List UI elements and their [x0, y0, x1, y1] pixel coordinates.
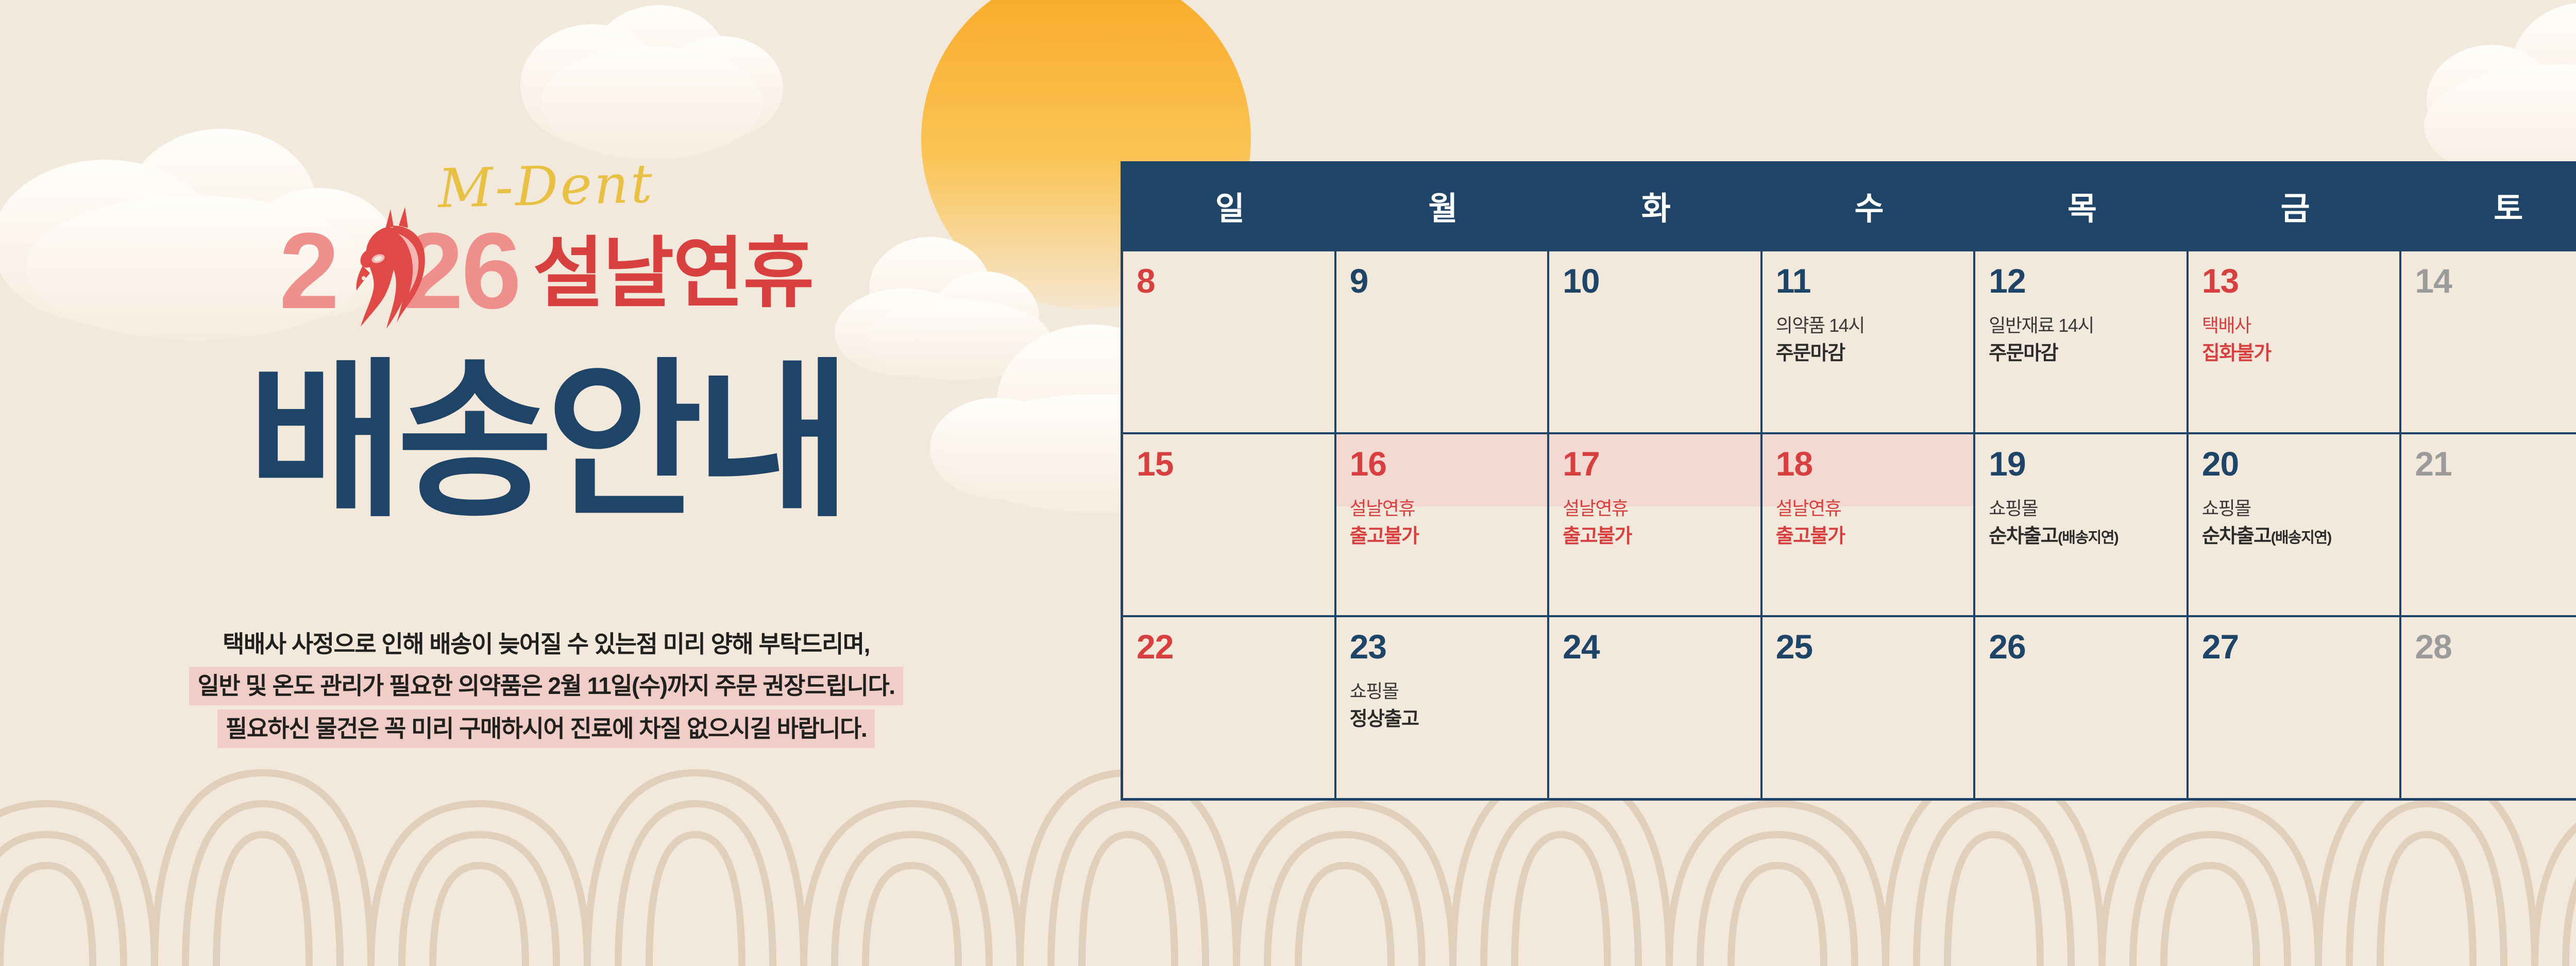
weekday-sun: 일 [1123, 164, 1336, 249]
day-note-secondary: 집화불가 [2202, 343, 2386, 365]
calendar-day-cell: 19쇼핑몰순차출고(배송지연) [1975, 432, 2189, 615]
lunar-new-year-delivery-banner: M-Dent 2 26 [0, 0, 2576, 966]
day-note-primary: 설날연휴 [1563, 498, 1747, 519]
year-headline-row: 2 26 [0, 227, 1092, 315]
day-number: 8 [1137, 264, 1321, 298]
day-note-primary: 쇼핑몰 [1989, 498, 2173, 519]
calendar-day-cell: 9 [1336, 249, 1550, 432]
weekday-wed: 수 [1762, 164, 1976, 249]
notice-line-3: 필요하신 물건은 꼭 미리 구매하시어 진료에 차질 없으시길 바랍니다. [217, 709, 875, 748]
day-number: 20 [2202, 447, 2386, 481]
day-number: 17 [1563, 447, 1747, 481]
day-note-secondary: 순차출고(배송지연) [1989, 526, 2173, 548]
day-number: 19 [1989, 447, 2173, 481]
calendar-day-cell: 15 [1123, 432, 1336, 615]
day-number: 28 [2415, 630, 2576, 664]
day-number: 13 [2202, 264, 2386, 298]
day-number: 24 [1563, 630, 1747, 664]
day-number: 22 [1137, 630, 1321, 664]
day-number: 23 [1350, 630, 1534, 664]
day-number: 11 [1776, 264, 1960, 298]
year-with-horse: 2 26 [279, 227, 519, 315]
calendar-day-cell: 24 [1549, 615, 1762, 798]
year-digit-2: 2 [279, 227, 337, 315]
day-note-secondary: 정상출고 [1350, 709, 1534, 731]
calendar-day-cell: 22 [1123, 615, 1336, 798]
horse-head-icon [340, 201, 443, 330]
notice-line-1: 택배사 사정으로 인해 배송이 늦어질 수 있는점 미리 양해 부탁드리며, [221, 626, 872, 663]
calendar-day-cell: 26 [1975, 615, 2189, 798]
day-note-secondary: 주문마감 [1989, 343, 2173, 365]
day-number: 9 [1350, 264, 1534, 298]
day-note-secondary: 출고불가 [1776, 526, 1960, 548]
calendar-day-cell: 8 [1123, 249, 1336, 432]
day-number: 21 [2415, 447, 2576, 481]
calendar-day-cell: 16설날연휴출고불가 [1336, 432, 1550, 615]
day-note-primary: 의약품 14시 [1776, 315, 1960, 336]
calendar-day-cell: 27 [2189, 615, 2402, 798]
weekday-sat: 토 [2401, 164, 2576, 249]
day-number: 27 [2202, 630, 2386, 664]
left-content-panel: M-Dent 2 26 [0, 0, 1092, 966]
calendar-day-cell: 17설날연휴출고불가 [1549, 432, 1762, 615]
day-note-secondary: 순차출고(배송지연) [2202, 526, 2386, 548]
calendar-day-cell: 11의약품 14시주문마감 [1762, 249, 1976, 432]
day-number: 10 [1563, 264, 1747, 298]
day-number: 18 [1776, 447, 1960, 481]
notice-line-2: 일반 및 온도 관리가 필요한 의약품은 2월 11일(수)까지 주문 권장드립… [189, 667, 903, 705]
weekday-thu: 목 [1975, 164, 2189, 249]
calendar-day-cell: 13택배사집화불가 [2189, 249, 2402, 432]
calendar-day-cell: 20쇼핑몰순차출고(배송지연) [2189, 432, 2402, 615]
day-note-primary: 일반재료 14시 [1989, 315, 2173, 336]
notice-text-block: 택배사 사정으로 인해 배송이 늦어질 수 있는점 미리 양해 부탁드리며, 일… [0, 626, 1092, 748]
day-number: 26 [1989, 630, 2173, 664]
day-note-secondary: 주문마감 [1776, 343, 1960, 365]
day-note-primary: 설날연휴 [1776, 498, 1960, 519]
calendar-day-cell: 18설날연휴출고불가 [1762, 432, 1976, 615]
calendar-weekday-header: 일 월 화 수 목 금 토 [1123, 164, 2576, 249]
day-number: 16 [1350, 447, 1534, 481]
calendar-day-cell: 25 [1762, 615, 1976, 798]
day-number: 15 [1137, 447, 1321, 481]
calendar-day-cell: 28 [2401, 615, 2576, 798]
calendar-day-cell: 12일반재료 14시주문마감 [1975, 249, 2189, 432]
brand-script-logo: M-Dent [0, 141, 1093, 231]
day-note-primary: 쇼핑몰 [2202, 498, 2386, 519]
page-title: 배송안내 [0, 361, 1092, 522]
weekday-fri: 금 [2189, 164, 2402, 249]
calendar-day-cell: 10 [1549, 249, 1762, 432]
calendar-day-cell: 14 [2401, 249, 2576, 432]
holiday-label: 설날연휴 [533, 239, 813, 315]
calendar-day-cell: 21 [2401, 432, 2576, 615]
day-note-qualifier: (배송지연) [2271, 530, 2331, 546]
weekday-tue: 화 [1549, 164, 1762, 249]
weekday-mon: 월 [1336, 164, 1550, 249]
day-note-secondary: 출고불가 [1350, 526, 1534, 548]
day-number: 14 [2415, 264, 2576, 298]
delivery-calendar: 일 월 화 수 목 금 토 891011의약품 14시주문마감12일반재료 14… [1121, 161, 2576, 801]
day-note-secondary: 출고불가 [1563, 526, 1747, 548]
day-note-qualifier: (배송지연) [2058, 530, 2118, 546]
cloud-cluster-top-right [2424, 3, 2576, 188]
day-note-primary: 택배사 [2202, 315, 2386, 336]
day-note-primary: 쇼핑몰 [1350, 681, 1534, 702]
calendar-day-cell: 23쇼핑몰정상출고 [1336, 615, 1550, 798]
day-number: 12 [1989, 264, 2173, 298]
day-note-primary: 설날연휴 [1350, 498, 1534, 519]
calendar-day-grid: 891011의약품 14시주문마감12일반재료 14시주문마감13택배사집화불가… [1123, 249, 2576, 798]
day-number: 25 [1776, 630, 1960, 664]
